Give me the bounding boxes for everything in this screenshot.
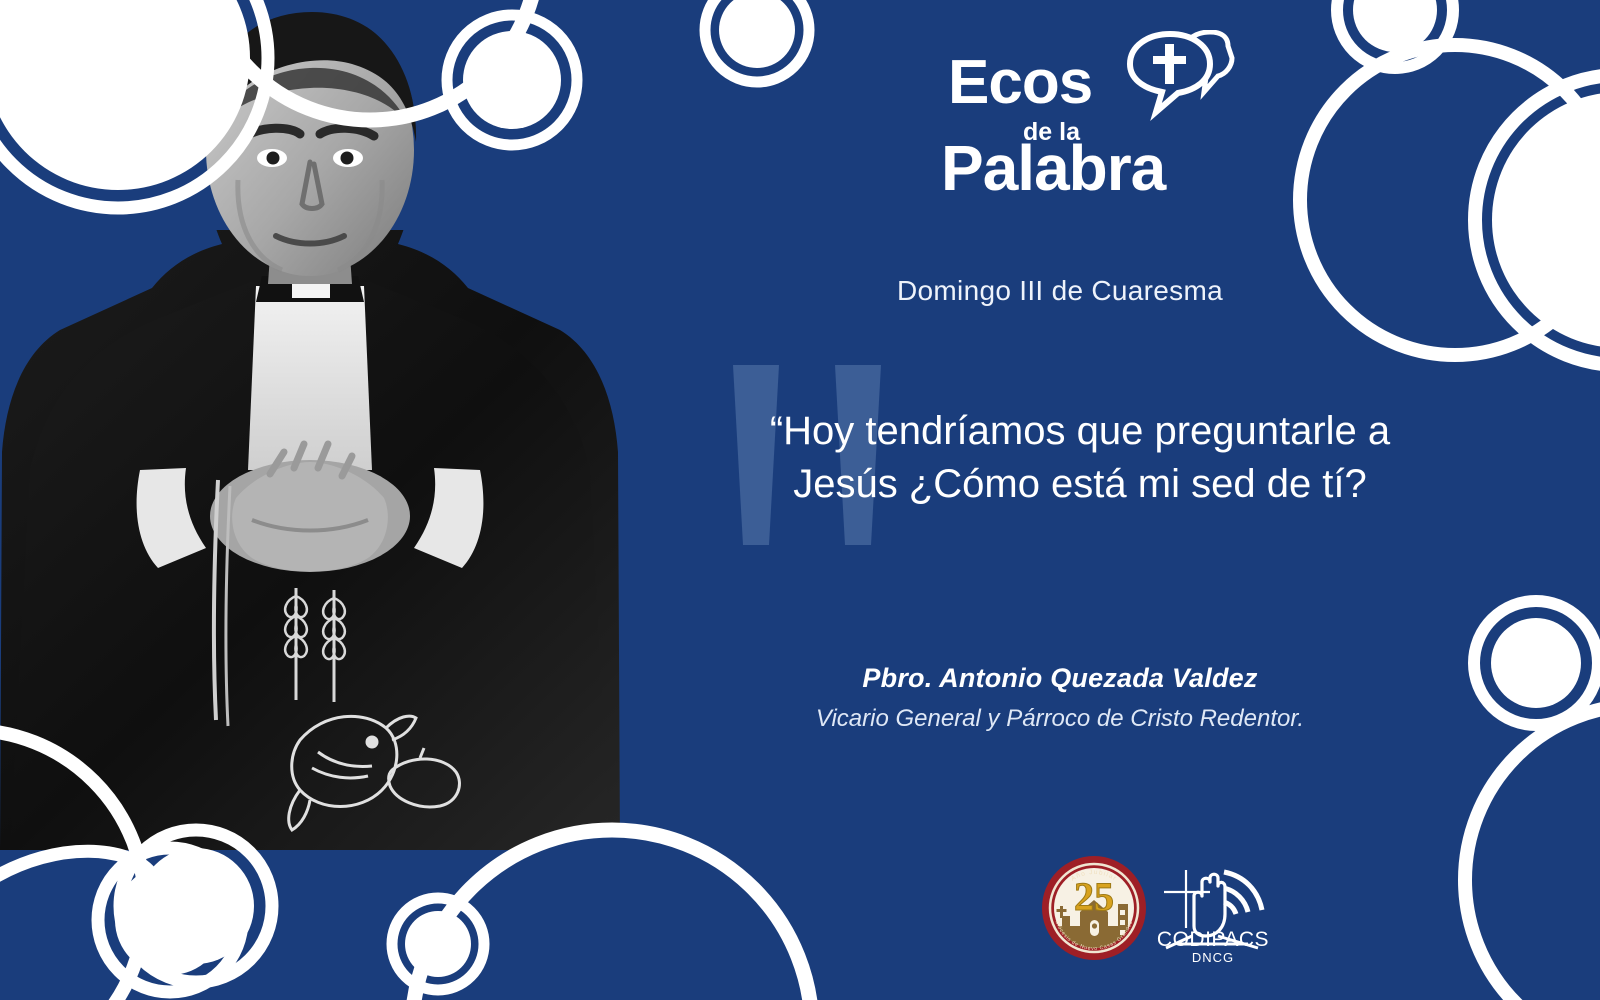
speaker-role: Vicario General y Párroco de Cristo Rede… (720, 705, 1400, 733)
codipacs-name: CODIPACS (1148, 928, 1278, 952)
liturgical-season-label: Domingo III de Cuaresma (720, 275, 1400, 307)
footer-logos: 25 Año Jubilar Diócesis de Nuevo Casas G… (1020, 852, 1280, 972)
jubilee-25-badge-logo: 25 Año Jubilar Diócesis de Nuevo Casas G… (1040, 854, 1148, 962)
codipacs-subtitle: DNCG (1148, 950, 1278, 965)
quote-text: “Hoy tendríamos que preguntarle a Jesús … (760, 405, 1400, 511)
jubilee-number: 25 (1074, 874, 1114, 919)
slide-canvas: Ecos de la Palabra Domingo III de Cuares… (0, 0, 1600, 1000)
speaker-name: Pbro. Antonio Quezada Valdez (720, 663, 1400, 694)
